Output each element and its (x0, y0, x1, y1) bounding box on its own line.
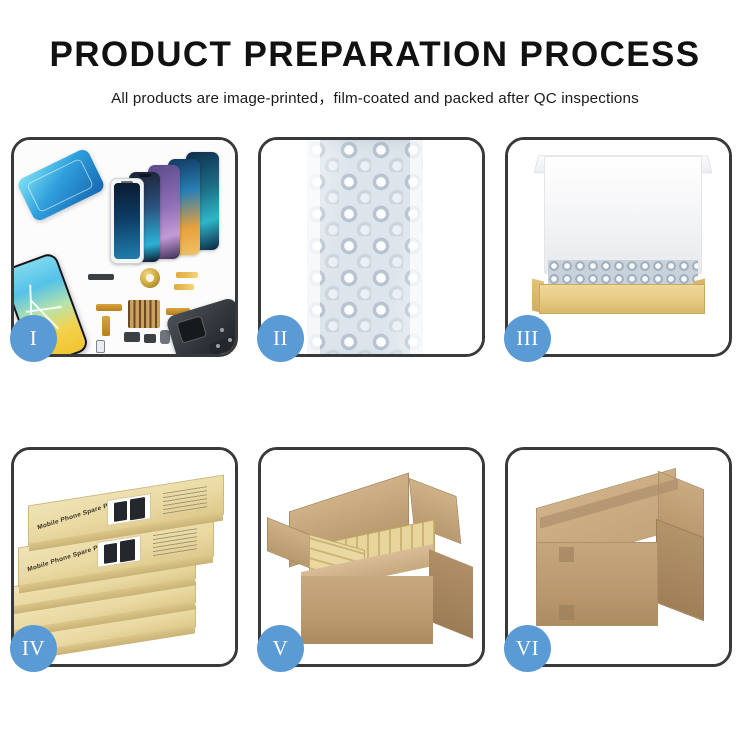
bubble-wrap-edge (410, 140, 423, 354)
process-step-panel-5: V (258, 447, 485, 667)
retail-box-spec-lines (163, 486, 207, 517)
retail-box-product-image (97, 535, 141, 568)
carton-tab-icon (559, 605, 574, 620)
process-step-panel-2: II (258, 137, 485, 357)
bubble-wrap-sheet-icon (307, 140, 423, 354)
box-kraft-front-icon (539, 284, 705, 314)
phone-screen-stack (110, 152, 235, 272)
screw-icon (220, 328, 224, 332)
step-badge-3: III (504, 315, 551, 362)
screen-thumb-icon (130, 497, 145, 520)
bubble-wrap-edge (307, 140, 320, 354)
screen-thumb-icon (114, 500, 127, 521)
carton-right-side-icon (429, 549, 473, 639)
screen-thumb-icon (104, 542, 117, 563)
phone-screen-1-icon (110, 178, 144, 264)
part-camera-module-icon (124, 332, 140, 342)
bubble-wrapped-contents-icon (548, 260, 698, 286)
process-step-panel-1: I (11, 137, 238, 357)
part-flex-strip-icon (176, 272, 198, 278)
screen-protector-film-icon (16, 147, 106, 223)
page-header: PRODUCT PREPARATION PROCESS All products… (0, 0, 750, 108)
part-speaker-icon (88, 274, 114, 280)
page-title: PRODUCT PREPARATION PROCESS (0, 36, 750, 75)
screw-icon (228, 338, 232, 342)
step-badge-2: II (257, 315, 304, 362)
part-flex-strip-icon (174, 284, 194, 290)
step-badge-5: V (257, 625, 304, 672)
retail-box-spec-lines (153, 528, 197, 559)
phone-notch-icon (139, 174, 151, 177)
product-preparation-process-page: PRODUCT PREPARATION PROCESS All products… (0, 0, 750, 750)
screen-thumb-icon (120, 539, 135, 562)
step-badge-1: I (10, 315, 57, 362)
screw-icon (216, 344, 220, 348)
step-badge-4: IV (10, 625, 57, 672)
part-sim-tray-icon (96, 340, 105, 353)
part-wireless-coil-icon (140, 268, 160, 288)
box-white-lid-icon (544, 156, 702, 274)
carton-front-icon (301, 576, 433, 644)
retail-box-product-image (107, 493, 151, 526)
carton-front-icon (536, 542, 658, 626)
process-steps-grid: I II (11, 137, 739, 667)
phone-notch-icon (121, 181, 133, 184)
part-battery-connector-icon (144, 334, 156, 343)
carton-tab-icon (559, 547, 574, 562)
part-flex-cable-icon (96, 304, 122, 311)
phone-back-housing-icon (165, 297, 235, 354)
process-step-panel-6: VI (505, 447, 732, 667)
carton-side-icon (656, 519, 704, 621)
part-flex-cable-icon (102, 316, 110, 336)
process-step-panel-4: Mobile Phone Spare Parts Mobile Phone Sp… (11, 447, 238, 667)
page-subtitle: All products are image-printed，film-coat… (0, 86, 750, 108)
step-badge-6: VI (504, 625, 551, 672)
process-step-panel-3: III (505, 137, 732, 357)
spare-parts-group (88, 268, 235, 354)
part-connector-grid-icon (128, 300, 160, 328)
